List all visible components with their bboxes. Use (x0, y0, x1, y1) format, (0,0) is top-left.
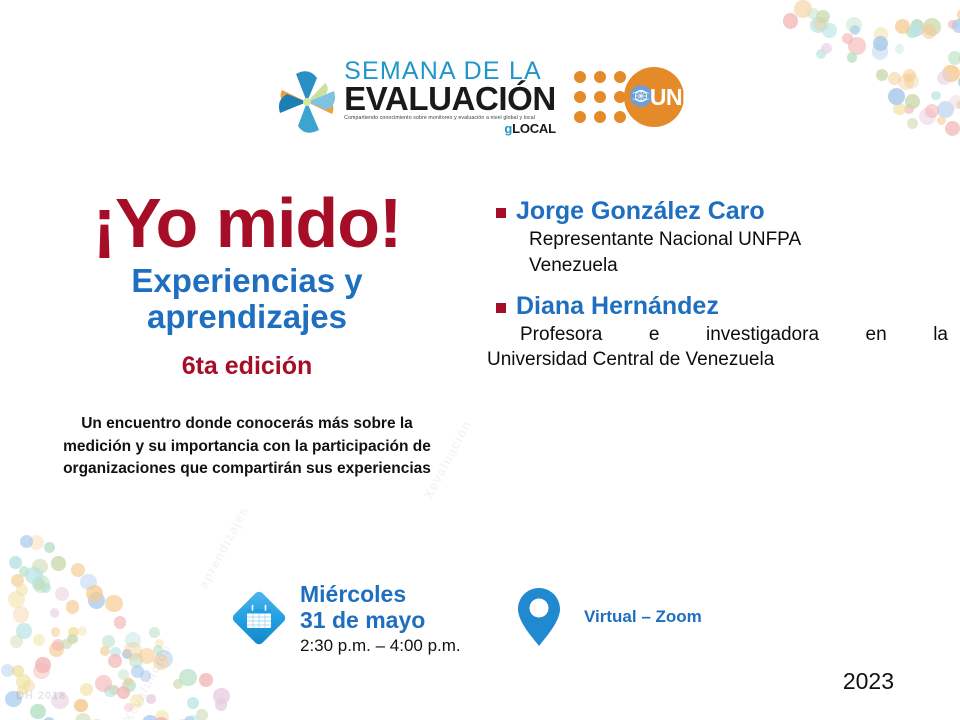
speaker-item: Jorge González Caro Representante Nacion… (496, 196, 948, 279)
glocal-brand-g: g (504, 121, 512, 136)
watermark-text: aprendizajes (195, 504, 251, 591)
page-subtitle-line2: aprendizajes (22, 299, 472, 336)
event-date-block: Miércoles 31 de mayo 2:30 p.m. – 4:00 p.… (228, 582, 461, 655)
speaker-heading: Diana Hernández (496, 291, 948, 322)
speaker-role-line2: Universidad Central de Venezuela (496, 347, 948, 373)
glocal-wordmark: SEMANA DE LA EVALUACIÓN Compartiendo con… (344, 59, 556, 135)
page-subtitle-line1: Experiencias y (22, 263, 472, 300)
unfpa-logo: UNFPA (574, 66, 684, 128)
description-text: Un encuentro donde conocerás más sobre l… (34, 413, 460, 480)
event-location-label: Virtual – Zoom (584, 607, 702, 627)
description-line3: organizaciones que compartirán sus exper… (34, 458, 460, 480)
watermark-credit: DH 2018 (16, 690, 66, 702)
description-line1: Un encuentro donde conocerás más sobre l… (34, 413, 460, 435)
event-year: 2023 (843, 668, 894, 695)
event-time: 2:30 p.m. – 4:00 p.m. (300, 636, 461, 655)
speaker-name: Jorge González Caro (516, 196, 765, 227)
event-day-name: Miércoles (300, 582, 461, 608)
slide-canvas: Xevaluación aprendizajes Xevaluación DH … (0, 0, 960, 720)
glocal-brand-local: LOCAL (512, 121, 556, 136)
page-title: ¡Yo mido! (22, 190, 472, 257)
speaker-item: Diana Hernández Profesora e investigador… (496, 291, 948, 374)
orange-dot-grid-icon (574, 71, 626, 123)
edition-label: 6ta edición (22, 352, 472, 381)
speaker-role-line1: Representante Nacional UNFPA (529, 227, 948, 253)
united-nations-emblem-icon (630, 85, 652, 107)
glocal-brand: gLOCAL (344, 122, 556, 135)
speaker-name: Diana Hernández (516, 291, 719, 322)
pinwheel-butterfly-logo-icon (276, 69, 338, 135)
speaker-role: Profesora e investigadora en la Universi… (496, 322, 948, 373)
watermark-text: Xevaluación (120, 642, 174, 720)
decorative-dots-bottom-left (0, 530, 230, 720)
square-bullet-icon (496, 303, 506, 313)
map-pin-icon (516, 586, 562, 648)
event-location-block: Virtual – Zoom (516, 586, 702, 648)
glocal-logo: SEMANA DE LA EVALUACIÓN Compartiendo con… (276, 59, 556, 135)
event-date-text: Miércoles 31 de mayo 2:30 p.m. – 4:00 p.… (300, 582, 461, 655)
calendar-diamond-icon (228, 587, 290, 649)
page-subtitle: Experiencias y aprendizajes (22, 263, 472, 337)
event-day-date: 31 de mayo (300, 608, 461, 634)
unfpa-wordmark: UNFPA (650, 84, 725, 111)
speaker-role: Representante Nacional UNFPA Venezuela (529, 227, 948, 278)
header-logos: SEMANA DE LA EVALUACIÓN Compartiendo con… (0, 52, 960, 142)
speaker-role-line1: Profesora e investigadora en la (529, 322, 948, 348)
square-bullet-icon (496, 208, 506, 218)
unfpa-disc: UNFPA (624, 67, 684, 127)
left-column: ¡Yo mido! Experiencias y aprendizajes 6t… (22, 190, 472, 481)
speaker-list: Jorge González Caro Representante Nacion… (496, 196, 948, 375)
description-line2: medición y su importancia con la partici… (34, 436, 460, 458)
glocal-line2: EVALUACIÓN (344, 82, 556, 115)
speaker-role-line2: Venezuela (529, 253, 948, 279)
speaker-heading: Jorge González Caro (496, 196, 948, 227)
